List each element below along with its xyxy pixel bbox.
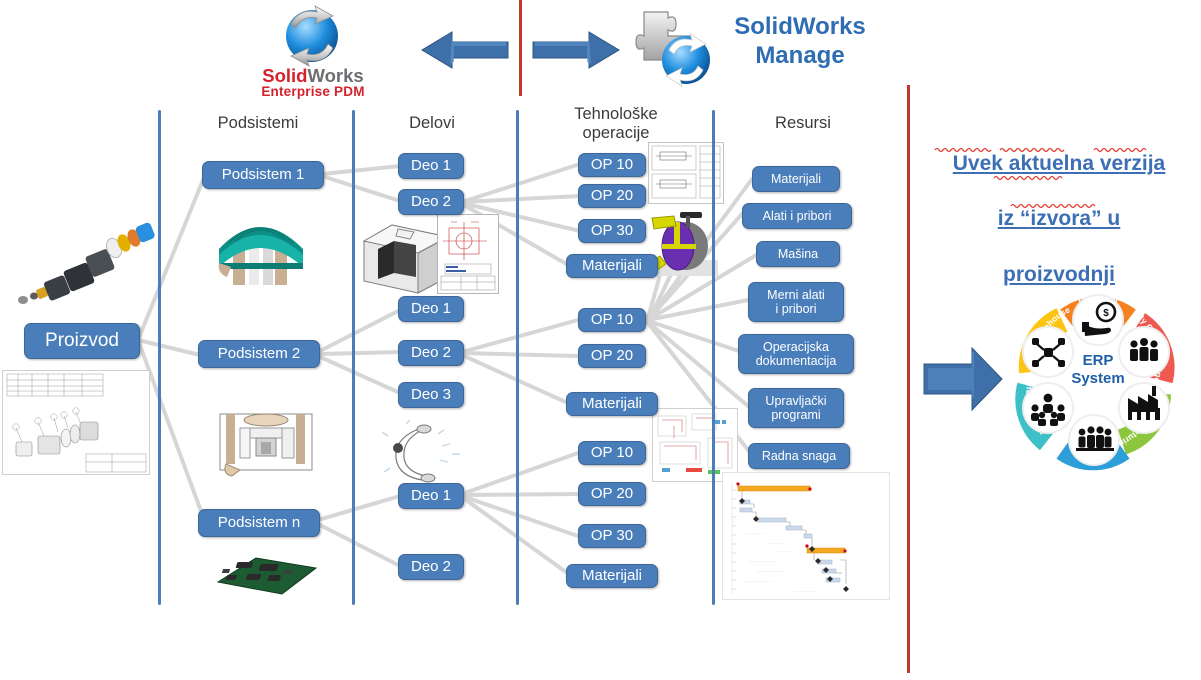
node-resurs-merni-alati[interactable]: Merni alati i pribori	[748, 282, 844, 322]
node-proizvod[interactable]: Proizvod	[24, 323, 140, 359]
part-sketch-render	[382, 420, 476, 490]
svg-text:......... ......: ......... ......	[768, 540, 786, 545]
right-headline-line-2: iz “izvora” u	[998, 207, 1121, 230]
subsystem2-housing-render	[210, 398, 320, 478]
solidworks-manage-title: SolidWorks Manage	[706, 12, 894, 71]
product-assembly-drawing	[2, 370, 150, 475]
column-divider-4	[712, 110, 715, 605]
node-deo-2-b[interactable]: Deo 2	[398, 340, 464, 366]
node-deo-1-c[interactable]: Deo 1	[398, 483, 464, 509]
node-op-10-a[interactable]: OP 10	[578, 153, 646, 177]
node-resurs-upravljacki[interactable]: Upravljački programi	[748, 388, 844, 428]
node-deo-2-a[interactable]: Deo 2	[398, 189, 464, 215]
subsystem1-teal-cap-render	[205, 205, 315, 285]
node-resurs-radna-snaga[interactable]: Radna snaga	[748, 443, 850, 469]
top-red-divider	[519, 0, 522, 96]
epdm-wordmark: SolidWorks Enterprise PDM	[249, 66, 377, 100]
column-header-podsistemi: Podsistemi	[178, 114, 338, 133]
node-op-20-b[interactable]: OP 20	[578, 344, 646, 368]
svg-text:........ ....... .........: ........ ....... .........	[748, 558, 777, 563]
epdm-word-solid: Solid	[262, 65, 307, 86]
epdm-word-works: Works	[308, 65, 364, 86]
svg-text:............ .......: ............ .......	[794, 588, 816, 593]
svg-text:....... ........ ..........: ....... ........ ..........	[756, 568, 786, 573]
subsystem-n-pcb-render	[212, 548, 324, 606]
exploded-product-render	[6, 222, 156, 312]
svg-text:$: $	[1103, 308, 1109, 319]
node-podsistem-1[interactable]: Podsistem 1	[202, 161, 324, 189]
node-op-30-a[interactable]: OP 30	[578, 219, 646, 243]
node-deo-1-a[interactable]: Deo 1	[398, 153, 464, 179]
svg-text:....: ....	[730, 520, 735, 524]
node-op-10-b[interactable]: OP 10	[578, 308, 646, 332]
node-deo-1-b[interactable]: Deo 1	[398, 296, 464, 322]
column-header-resursi: Resursi	[728, 114, 878, 133]
arrow-right-icon	[531, 28, 623, 70]
right-red-divider	[907, 85, 910, 673]
diagram-canvas: ....... ........ ......... ...... ......…	[0, 0, 1201, 680]
node-op-20-c[interactable]: OP 20	[578, 482, 646, 506]
column-header-delovi: Delovi	[372, 114, 492, 133]
node-resurs-materijali[interactable]: Materijali	[752, 166, 840, 192]
epdm-word-subtitle: Enterprise PDM	[249, 85, 377, 99]
node-podsistem-2[interactable]: Podsistem 2	[198, 340, 320, 368]
svg-text:..........................: ..........................	[744, 578, 773, 583]
column-header-operacije: Tehnološke operacije	[536, 105, 696, 143]
node-podsistem-n[interactable]: Podsistem n	[198, 509, 320, 537]
node-op-20-a[interactable]: OP 20	[578, 184, 646, 208]
erp-center-label: ERP System	[1042, 352, 1154, 388]
node-resurs-alati-pribori[interactable]: Alati i pribori	[742, 203, 852, 229]
node-resurs-operacijska-dok[interactable]: Operacijska dokumentacija	[738, 334, 854, 374]
part-technical-drawing	[437, 214, 499, 294]
gantt-schedule: ....... ........ ......... ...... ......…	[722, 472, 890, 600]
node-resurs-masina[interactable]: Mašina	[756, 241, 840, 267]
node-deo-2-c[interactable]: Deo 2	[398, 554, 464, 580]
cnc-program-sheet	[652, 408, 738, 482]
svg-text:....... ........: ....... ........	[746, 530, 764, 535]
solidworks-recycle-icon	[271, 4, 353, 68]
arrow-left-icon	[418, 28, 510, 70]
node-op-30-c[interactable]: OP 30	[578, 524, 646, 548]
svg-text:........ ...: ........ ...	[778, 548, 791, 553]
node-materijali-a[interactable]: Materijali	[566, 254, 658, 278]
column-divider-2	[352, 110, 355, 605]
node-deo-3-b[interactable]: Deo 3	[398, 382, 464, 408]
node-materijali-b[interactable]: Materijali	[566, 392, 658, 416]
column-divider-3	[516, 110, 519, 605]
node-materijali-c[interactable]: Materijali	[566, 564, 658, 588]
erp-arrow-right-icon	[922, 342, 1004, 416]
node-op-10-c[interactable]: OP 10	[578, 441, 646, 465]
right-headline-line-1: Uvek aktuelna verzija	[953, 152, 1165, 175]
column-divider-1	[158, 110, 161, 605]
